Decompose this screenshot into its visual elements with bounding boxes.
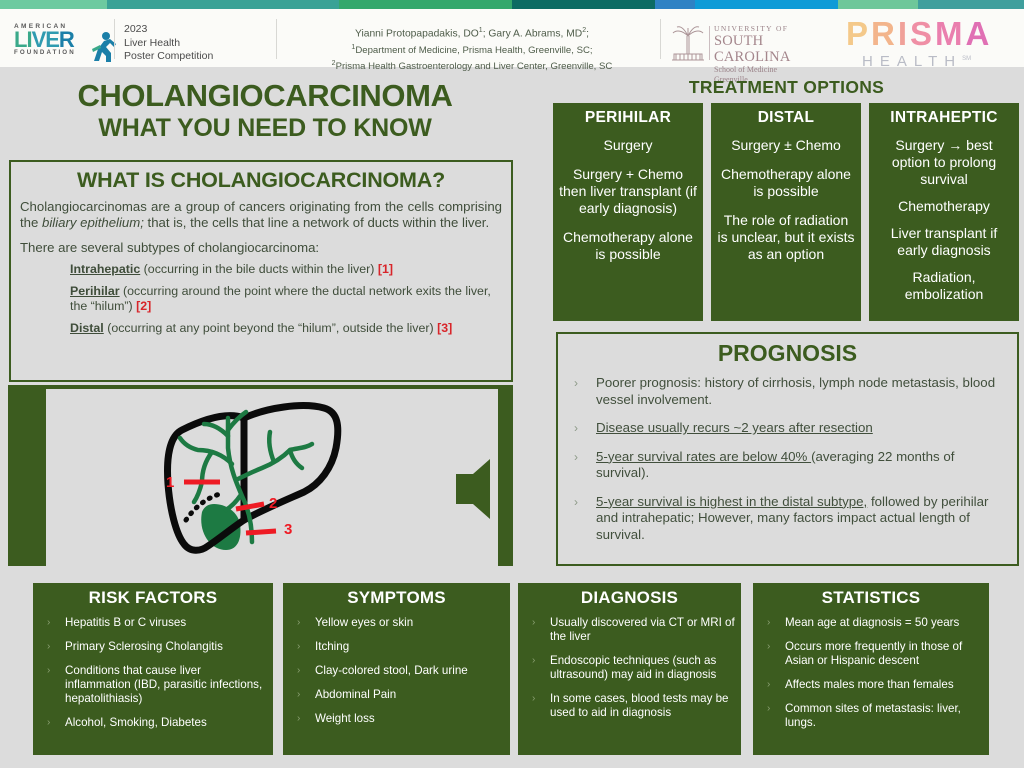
chevron-right-icon: › [47, 640, 50, 654]
author-block: Yianni Protopapadakis, DO1; Gary A. Abra… [286, 24, 658, 73]
symptoms-heading: SYMPTOMS [289, 588, 504, 608]
list-item: ›Usually discovered via CT or MRI of the… [524, 616, 735, 644]
list-item: ›In some cases, blood tests may be used … [524, 692, 735, 720]
treatment-column-intraheptic: INTRAHEPTIC Surgery → best option to pro… [869, 103, 1019, 321]
runner-icon [86, 31, 116, 63]
chevron-right-icon: › [297, 616, 300, 630]
symptoms-list: ›Yellow eyes or skin ›Itching ›Clay-colo… [289, 616, 504, 726]
treatment-item: The role of radiation is unclear, but it… [717, 212, 855, 263]
subtype-intrahepatic: Intrahepatic (occurring in the bile duct… [70, 262, 502, 277]
treatment-item: Surgery ± Chemo [717, 137, 855, 154]
treatment-item: Chemotherapy [875, 198, 1013, 215]
treatment-item: Radiation, embolization [875, 269, 1013, 303]
what-is-cholangiocarcinoma-panel: WHAT IS CHOLANGIOCARCINOMA? Cholangiocar… [9, 160, 513, 382]
color-segment [0, 0, 107, 9]
chevron-right-icon: › [767, 678, 770, 692]
chevron-right-icon: › [532, 654, 535, 668]
subtype-distal: Distal (occurring at any point beyond th… [70, 321, 502, 336]
list-item: ›Affects males more than females [759, 678, 983, 692]
treatment-item: Chemotherapy alone is possible [559, 229, 697, 263]
chevron-right-icon: › [297, 688, 300, 702]
list-item: ›Alcohol, Smoking, Diabetes [39, 716, 267, 730]
treatment-heading-intraheptic: INTRAHEPTIC [875, 109, 1013, 127]
color-segment [512, 0, 655, 9]
color-segment [107, 0, 339, 9]
chevron-right-icon: › [532, 692, 535, 706]
liver-anatomy-diagram: 1 2 3 [140, 392, 380, 566]
author-affiliation-2: 2Prisma Health Gastroenterology and Live… [286, 57, 658, 73]
author-affiliation-1: 1Department of Medicine, Prisma Health, … [286, 41, 658, 57]
chevron-right-icon: › [297, 712, 300, 726]
what-is-paragraph-1: Cholangiocarcinomas are a group of cance… [20, 199, 502, 231]
diagnosis-list: ›Usually discovered via CT or MRI of the… [524, 616, 735, 720]
list-item: ›Primary Sclerosing Cholangitis [39, 640, 267, 654]
list-item: ›Conditions that cause liver inflammatio… [39, 664, 267, 706]
prognosis-item: ›5-year survival is highest in the dista… [566, 494, 1007, 544]
competition-line2: Liver Health [124, 37, 213, 51]
list-item: ›Mean age at diagnosis = 50 years [759, 616, 983, 630]
prognosis-item: ›Disease usually recurs ~2 years after r… [566, 420, 1007, 437]
right-arrow-icon [456, 459, 490, 519]
treatment-options-title: TREATMENT OPTIONS [549, 77, 1024, 98]
treatment-item: Liver transplant if early diagnosis [875, 225, 1013, 259]
chevron-right-icon: › [767, 640, 770, 654]
prognosis-heading: PROGNOSIS [558, 334, 1017, 375]
author-names: Yianni Protopapadakis, DO1; Gary A. Abra… [286, 24, 658, 41]
chevron-right-icon: › [767, 702, 770, 716]
usc-logo-text: UNIVERSITY OF SOUTH CAROLINA School of M… [714, 24, 840, 85]
diagnosis-heading: DIAGNOSIS [524, 588, 735, 608]
treatment-options-columns: PERIHILAR Surgery Surgery + Chemo then l… [553, 103, 1019, 321]
american-liver-foundation-logo: AMERICAN LIVER FOUNDATION [14, 23, 114, 65]
competition-line3: Poster Competition [124, 50, 213, 64]
palmetto-tree-crest-icon [668, 24, 708, 62]
usc-line-south-carolina: SOUTH CAROLINA [714, 33, 840, 65]
statistics-list: ›Mean age at diagnosis = 50 years ›Occur… [759, 616, 983, 730]
diagnosis-panel: DIAGNOSIS ›Usually discovered via CT or … [518, 583, 741, 755]
list-item: ›Weight loss [289, 712, 504, 726]
color-segment [695, 0, 838, 9]
subtype-perihilar: Perihilar (occurring around the point wh… [70, 284, 502, 314]
header-divider [114, 19, 115, 59]
top-color-bar [0, 0, 1024, 9]
usc-line-university-of: UNIVERSITY OF [714, 24, 840, 33]
list-item: ›Endoscopic techniques (such as ultrasou… [524, 654, 735, 682]
usc-line-school-of-medicine: School of Medicine [714, 65, 840, 75]
treatment-heading-perihilar: PERIHILAR [559, 109, 697, 127]
treatment-item: Surgery [559, 137, 697, 154]
liver-marker-label-2: 2 [269, 495, 277, 512]
chevron-right-icon: › [47, 616, 50, 630]
chevron-right-icon: › [532, 616, 535, 630]
prognosis-item: ›Poorer prognosis: history of cirrhosis,… [566, 375, 1007, 408]
poster-canvas: AMERICAN LIVER FOUNDATION 2023 Liver Hea… [0, 0, 1024, 768]
list-item: ›Itching [289, 640, 504, 654]
chevron-right-icon: › [767, 616, 770, 630]
chevron-right-icon: › [47, 664, 50, 678]
treatment-heading-distal: DISTAL [717, 109, 855, 127]
color-segment [655, 0, 695, 9]
statistics-panel: STATISTICS ›Mean age at diagnosis = 50 y… [753, 583, 989, 755]
prognosis-item: ›5-year survival rates are below 40% (av… [566, 449, 1007, 482]
list-item: ›Common sites of metastasis: liver, lung… [759, 702, 983, 730]
chevron-right-icon: › [574, 375, 578, 392]
chevron-right-icon: › [574, 420, 578, 437]
list-item: ›Abdominal Pain [289, 688, 504, 702]
usc-school-of-medicine-logo: UNIVERSITY OF SOUTH CAROLINA School of M… [668, 22, 840, 64]
header-band: AMERICAN LIVER FOUNDATION 2023 Liver Hea… [0, 9, 1024, 67]
statistics-heading: STATISTICS [759, 588, 983, 608]
risk-factors-list: ›Hepatitis B or C viruses ›Primary Scler… [39, 616, 267, 730]
prisma-health-subtext: HEALTHSM [846, 50, 1016, 71]
prisma-health-logo: PRISMA HEALTHSM [846, 17, 1016, 67]
what-is-heading: WHAT IS CHOLANGIOCARCINOMA? [11, 162, 511, 197]
chevron-right-icon: › [574, 449, 578, 466]
chevron-right-icon: › [297, 640, 300, 654]
prognosis-panel: PROGNOSIS ›Poorer prognosis: history of … [556, 332, 1019, 566]
chevron-right-icon: › [297, 664, 300, 678]
header-divider [660, 19, 661, 59]
usc-logo-divider [709, 26, 710, 60]
page-title: CHOLANGIOCARCINOMA [8, 78, 522, 113]
risk-factors-heading: RISK FACTORS [39, 588, 267, 608]
prognosis-list: ›Poorer prognosis: history of cirrhosis,… [558, 375, 1017, 543]
color-segment [339, 0, 512, 9]
header-divider [276, 19, 277, 59]
competition-info: 2023 Liver Health Poster Competition [124, 23, 213, 64]
chevron-right-icon: › [47, 716, 50, 730]
treatment-item: Surgery → best option to prolong surviva… [875, 137, 1013, 188]
liver-marker-label-1: 1 [166, 474, 174, 491]
treatment-column-distal: DISTAL Surgery ± Chemo Chemotherapy alon… [711, 103, 861, 321]
list-item: ›Occurs more frequently in those of Asia… [759, 640, 983, 668]
symptoms-panel: SYMPTOMS ›Yellow eyes or skin ›Itching ›… [283, 583, 510, 755]
treatment-item: Chemotherapy alone is possible [717, 166, 855, 200]
prisma-wordmark: PRISMA [846, 17, 1016, 50]
treatment-column-perihilar: PERIHILAR Surgery Surgery + Chemo then l… [553, 103, 703, 321]
list-item: ›Yellow eyes or skin [289, 616, 504, 630]
risk-factors-panel: RISK FACTORS ›Hepatitis B or C viruses ›… [33, 583, 273, 755]
list-item: ›Clay-colored stool, Dark urine [289, 664, 504, 678]
left-arrow-icon [8, 459, 42, 519]
chevron-right-icon: › [574, 494, 578, 511]
color-segment [838, 0, 918, 9]
what-is-paragraph-2: There are several subtypes of cholangioc… [20, 240, 502, 256]
competition-year: 2023 [124, 23, 213, 37]
color-segment [918, 0, 1024, 9]
list-item: ›Hepatitis B or C viruses [39, 616, 267, 630]
page-subtitle: WHAT YOU NEED TO KNOW [8, 114, 522, 142]
treatment-item: Surgery + Chemo then liver transplant (i… [559, 166, 697, 217]
liver-marker-label-3: 3 [284, 521, 292, 538]
